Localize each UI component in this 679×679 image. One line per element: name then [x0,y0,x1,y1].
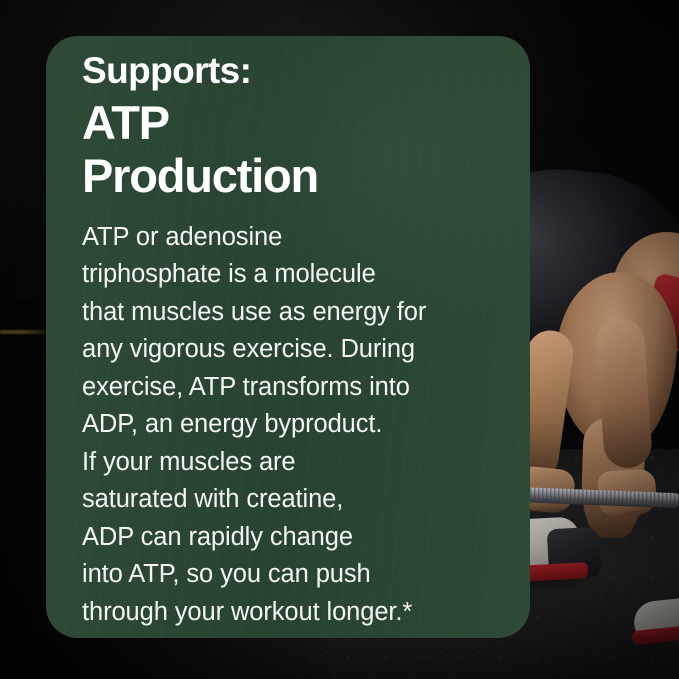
green-info-panel: Supports: ATP Production ATP or adenosin… [46,36,530,638]
body-line: If your muscles are [82,444,474,482]
body-line: exercise, ATP transforms into [82,369,474,407]
body-line: any vigorous exercise. During [82,331,474,369]
body-paragraph: ATP or adenosine triphosphate is a molec… [82,219,474,632]
panel-content: Supports: ATP Production ATP or adenosin… [82,50,512,631]
heading-production: Production [82,150,512,203]
body-line: saturated with creatine, [82,481,474,519]
body-line: that muscles use as energy for [82,294,474,332]
heading-supports: Supports: [82,50,512,91]
infographic-canvas: Supports: ATP Production ATP or adenosin… [0,0,679,679]
body-line: ADP can rapidly change [82,519,474,557]
body-line: ATP or adenosine [82,219,474,257]
body-line: through your workout longer.* [82,594,474,632]
body-line: into ATP, so you can push [82,556,474,594]
body-line: triphosphate is a molecule [82,256,474,294]
body-line: ADP, an energy byproduct. [82,406,474,444]
heading-atp: ATP [82,97,512,150]
